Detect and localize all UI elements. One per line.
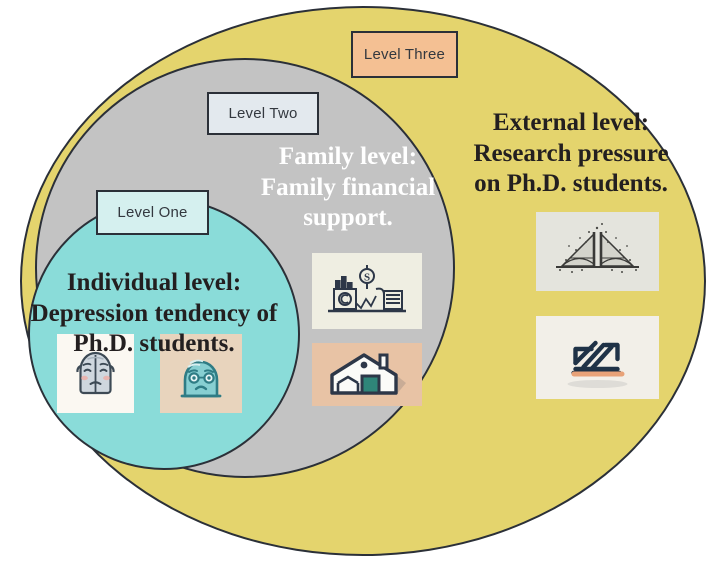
pyramid-truss-structure-icon bbox=[536, 212, 659, 291]
level-three-tag[interactable]: Level Three bbox=[351, 31, 458, 78]
family-level-description: Family level: Family financial support. bbox=[233, 142, 463, 234]
individual-level-description: Individual level: Depression tendency of… bbox=[8, 268, 300, 360]
diagram-canvas: S bbox=[0, 0, 726, 570]
external-level-description: External level: Research pressure on Ph.… bbox=[440, 108, 702, 200]
level-two-tag[interactable]: Level Two bbox=[207, 92, 319, 135]
level-three-tag-label: Level Three bbox=[364, 46, 445, 63]
svg-text:S: S bbox=[364, 271, 370, 283]
financial-chart-dollar-icon: S bbox=[312, 253, 422, 329]
stacked-layers-abstract-icon bbox=[536, 316, 659, 399]
level-two-tag-label: Level Two bbox=[228, 105, 297, 122]
level-one-tag-label: Level One bbox=[117, 204, 187, 221]
level-one-tag[interactable]: Level One bbox=[96, 190, 209, 235]
house-home-support-icon bbox=[312, 343, 422, 406]
